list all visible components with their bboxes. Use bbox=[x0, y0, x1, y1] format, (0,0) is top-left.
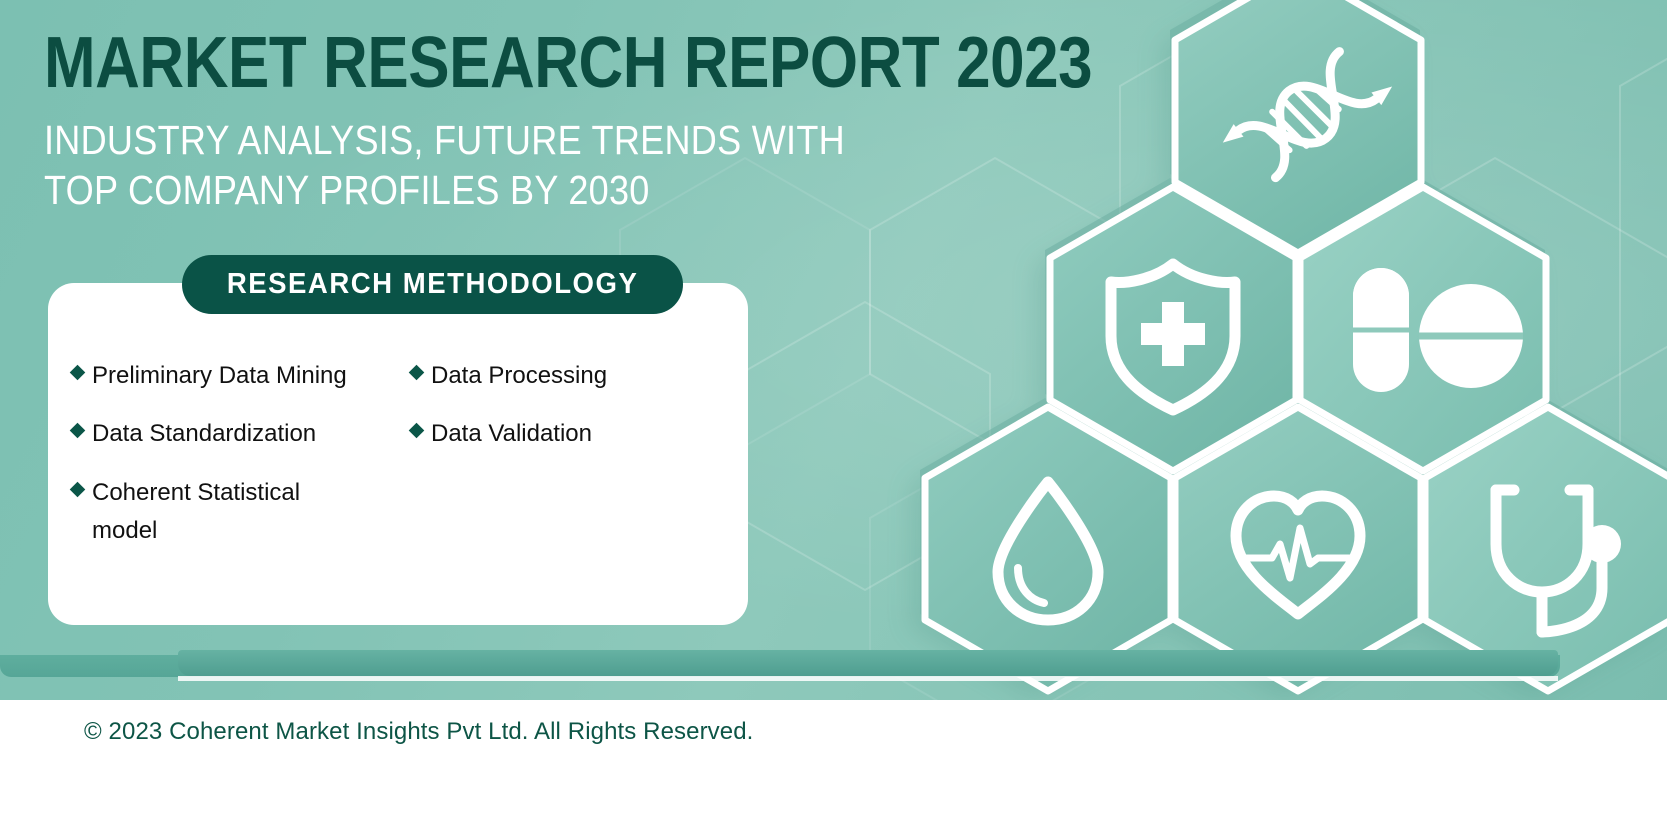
copyright-text: © 2023 Coherent Market Insights Pvt Ltd.… bbox=[84, 718, 753, 745]
page-subtitle: INDUSTRY ANALYSIS, FUTURE TRENDS WITH TO… bbox=[44, 115, 924, 215]
list-item-label: Data Standardization bbox=[92, 415, 316, 453]
methodology-column-right: Data Processing Data Validation bbox=[399, 357, 738, 571]
list-item: Coherent Statistical model bbox=[72, 474, 399, 551]
list-item-label: Data Processing bbox=[431, 357, 607, 395]
research-methodology-card: RESEARCH METHODOLOGY Preliminary Data Mi… bbox=[48, 283, 748, 625]
list-item: Data Processing bbox=[411, 357, 738, 395]
headline-block: MARKET RESEARCH REPORT 2023 INDUSTRY ANA… bbox=[44, 28, 1044, 215]
list-item-label: Coherent Statistical model bbox=[92, 474, 362, 551]
research-methodology-badge: RESEARCH METHODOLOGY bbox=[182, 255, 683, 314]
page-title: MARKET RESEARCH REPORT 2023 bbox=[44, 28, 904, 99]
bottom-bar-highlight bbox=[178, 676, 1558, 681]
methodology-column-left: Preliminary Data Mining Data Standardiza… bbox=[72, 357, 399, 571]
bottom-accent-bar-inner bbox=[178, 650, 1558, 676]
market-research-banner: MARKET RESEARCH REPORT 2023 INDUSTRY ANA… bbox=[0, 0, 1667, 833]
diamond-bullet-icon bbox=[70, 482, 86, 498]
list-item-label: Data Validation bbox=[431, 415, 592, 453]
list-item: Preliminary Data Mining bbox=[72, 357, 399, 395]
list-item-label: Preliminary Data Mining bbox=[92, 357, 347, 395]
list-item: Data Validation bbox=[411, 415, 738, 453]
diamond-bullet-icon bbox=[70, 423, 86, 439]
footer: © 2023 Coherent Market Insights Pvt Ltd.… bbox=[84, 718, 753, 746]
diamond-bullet-icon bbox=[409, 423, 425, 439]
diamond-bullet-icon bbox=[409, 365, 425, 381]
diamond-bullet-icon bbox=[70, 365, 86, 381]
research-methodology-badge-label: RESEARCH METHODOLOGY bbox=[227, 268, 639, 301]
methodology-bullet-columns: Preliminary Data Mining Data Standardiza… bbox=[72, 357, 738, 571]
list-item: Data Standardization bbox=[72, 415, 399, 453]
